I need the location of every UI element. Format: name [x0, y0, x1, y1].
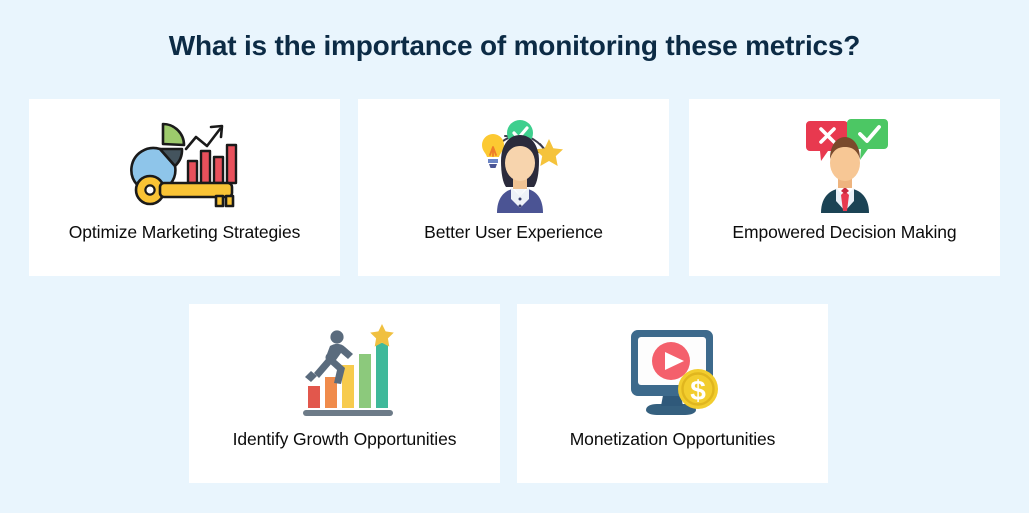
card-label: Empowered Decision Making	[718, 221, 970, 245]
man-cross-check-bubbles-icon	[790, 115, 900, 215]
woman-lightbulb-check-star-icon	[459, 115, 569, 215]
card-label: Identify Growth Opportunities	[219, 428, 471, 452]
page-title: What is the importance of monitoring the…	[0, 30, 1029, 62]
card-better-user-experience[interactable]: Better User Experience	[358, 99, 669, 276]
svg-text:$: $	[690, 375, 706, 406]
card-label: Better User Experience	[410, 221, 617, 245]
pie-chart-bar-chart-key-icon	[130, 115, 240, 215]
card-label: Optimize Marketing Strategies	[55, 221, 315, 245]
infographic-page: What is the importance of monitoring the…	[0, 0, 1029, 513]
card-optimize-marketing-strategies[interactable]: Optimize Marketing Strategies	[29, 99, 340, 276]
monitor-play-dollar-coin-icon: $	[621, 322, 725, 422]
card-identify-growth-opportunities[interactable]: Identify Growth Opportunities	[189, 304, 500, 483]
card-label: Monetization Opportunities	[556, 428, 790, 452]
card-monetization-opportunities[interactable]: $ Monetization Opportunities	[517, 304, 828, 483]
runner-ascending-bars-star-icon	[293, 322, 397, 422]
card-empowered-decision-making[interactable]: Empowered Decision Making	[689, 99, 1000, 276]
